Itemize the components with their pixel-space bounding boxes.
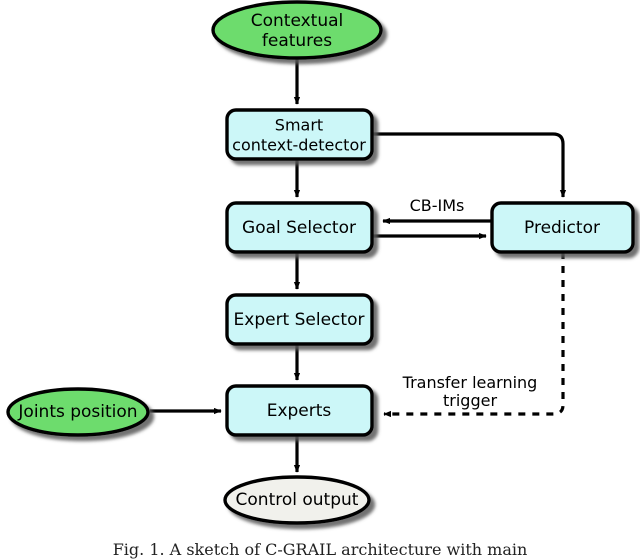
predictor-label: Predictor — [524, 218, 600, 238]
joints-position-label: Joints position — [17, 402, 137, 422]
smart-context-detector-label-line2: context-detector — [232, 136, 366, 155]
goal-selector-label: Goal Selector — [242, 218, 356, 238]
edge-detector-to-predictor — [372, 134, 563, 197]
figure-caption: Fig. 1. A sketch of C-GRAIL architecture… — [0, 540, 640, 559]
contextual-features-label-line1: Contextual — [251, 11, 344, 31]
edge-label-cb-ims: CB-IMs — [410, 196, 465, 215]
diagram-canvas: Contextual features Smart context-detect… — [0, 0, 640, 556]
control-output-label: Control output — [236, 490, 359, 510]
edge-label-transfer-learning-line1: Transfer learning — [402, 373, 538, 392]
node-layer: Contextual features Smart context-detect… — [8, 2, 633, 523]
expert-selector-label: Expert Selector — [234, 310, 365, 330]
edge-label-transfer-learning-line2: trigger — [443, 391, 497, 410]
architecture-diagram: Contextual features Smart context-detect… — [0, 0, 640, 556]
smart-context-detector-label-line1: Smart — [275, 116, 323, 135]
experts-label: Experts — [267, 401, 332, 421]
contextual-features-label-line2: features — [262, 31, 332, 51]
